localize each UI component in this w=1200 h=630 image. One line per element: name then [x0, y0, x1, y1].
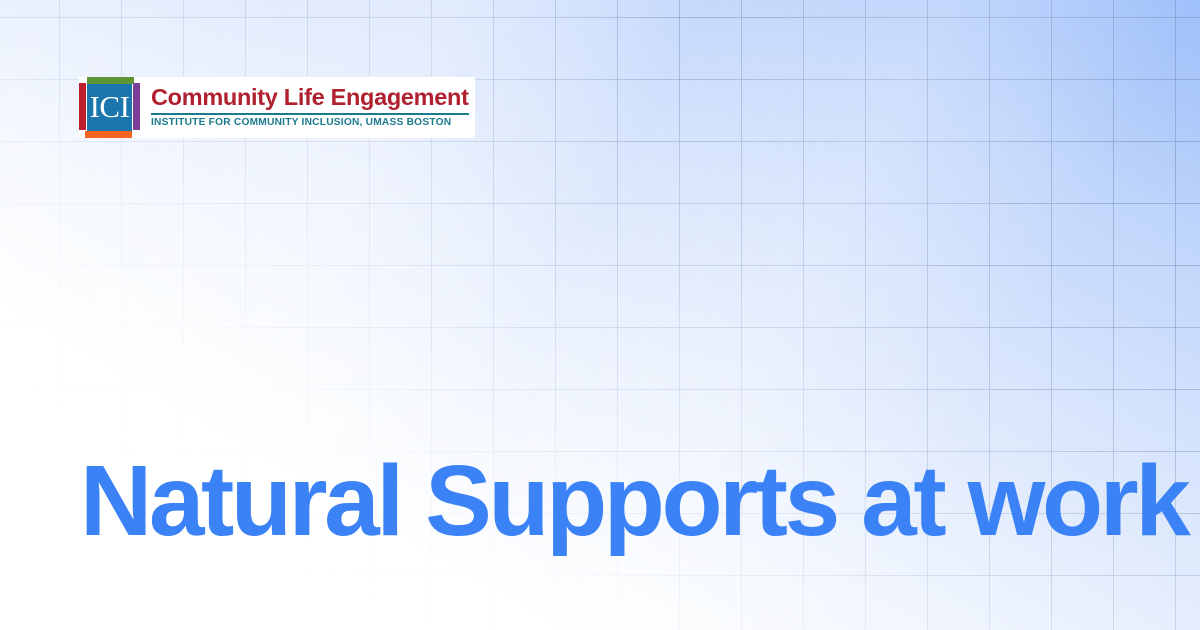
logo-border-left	[79, 83, 86, 130]
logo-divider-rule	[151, 113, 469, 115]
logo-monogram-square: ICI	[87, 84, 132, 131]
logo-border-right	[133, 83, 140, 130]
logo-border-top	[87, 77, 134, 84]
logo-title: Community Life Engagement	[151, 86, 469, 110]
logo-border-bottom	[85, 131, 132, 138]
logo-wordmark: Community Life Engagement INSTITUTE FOR …	[140, 77, 471, 138]
ici-community-life-engagement-logo: ICI Community Life Engagement INSTITUTE …	[79, 77, 475, 138]
logo-subtitle: INSTITUTE FOR COMMUNITY INCLUSION, UMASS…	[151, 118, 469, 128]
logo-monogram-text: ICI	[90, 91, 130, 124]
page-title: Natural Supports at work	[80, 443, 1150, 559]
banner-canvas: ICI Community Life Engagement INSTITUTE …	[0, 0, 1200, 630]
ici-logo-mark-icon: ICI	[79, 77, 140, 138]
